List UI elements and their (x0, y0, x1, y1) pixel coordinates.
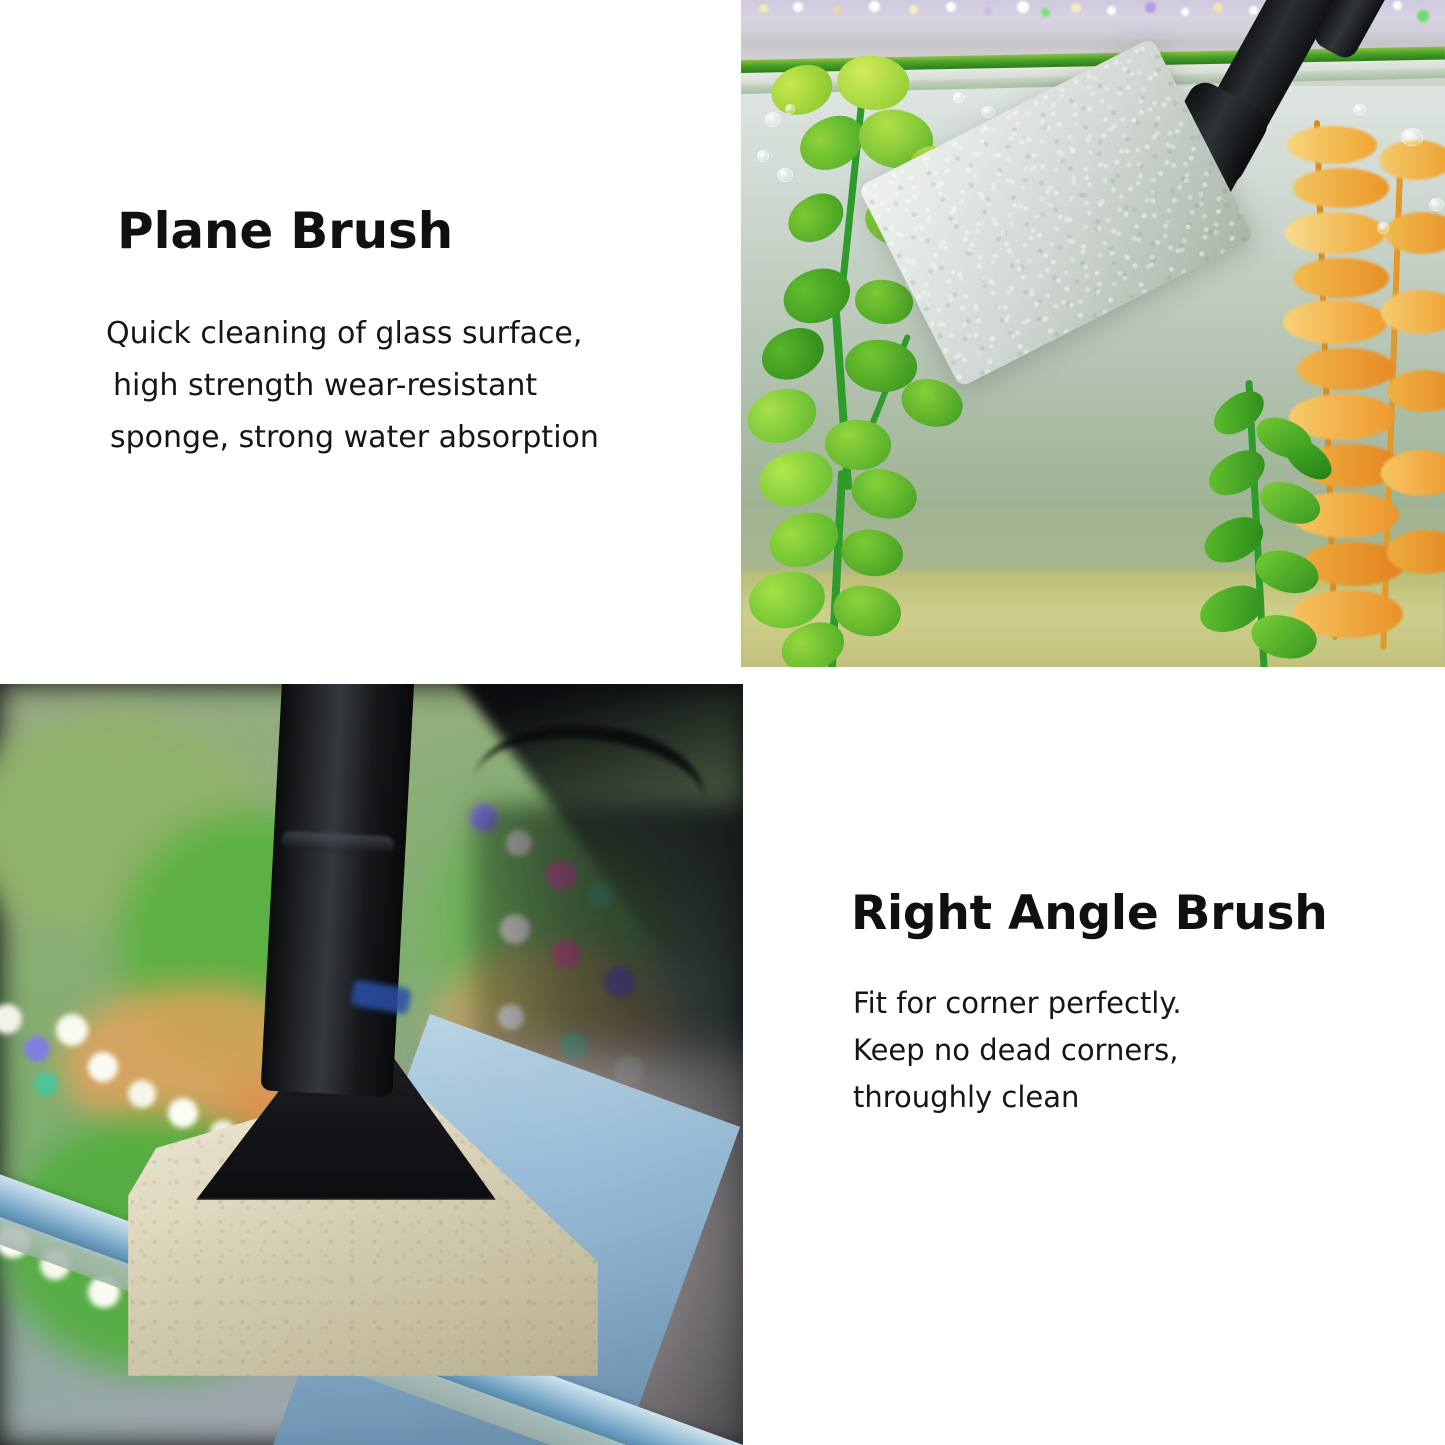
right-angle-brush-photo (0, 684, 743, 1445)
led-light (1249, 6, 1258, 15)
led-light (1041, 8, 1050, 17)
plane-brush-desc-line-3: sponge, strong water absorption (106, 412, 599, 464)
bokeh-light (88, 1052, 118, 1082)
plane-brush-title: Plane Brush (117, 202, 453, 260)
led-light (1393, 1, 1402, 10)
water-bubble (1401, 128, 1423, 146)
led-light (1181, 8, 1189, 16)
led-light (759, 4, 768, 13)
water-bubble (765, 112, 780, 127)
led-light (1145, 2, 1156, 13)
plane-brush-description: Quick cleaning of glass surface, high st… (106, 308, 599, 464)
bokeh-light (168, 1098, 198, 1128)
led-light (984, 7, 992, 15)
led-light (909, 5, 918, 14)
led-light (1213, 3, 1223, 13)
bokeh-light (128, 1080, 156, 1108)
led-light (1017, 1, 1029, 13)
led-light (946, 2, 956, 12)
led-light (833, 6, 841, 14)
water-bubble (1377, 222, 1389, 234)
bokeh-light (56, 1014, 88, 1046)
led-light (793, 2, 803, 12)
water-bubble (1429, 198, 1444, 211)
infographic-canvas: Plane Brush Quick cleaning of glass surf… (0, 0, 1445, 1445)
water-bubble (757, 150, 769, 162)
water-bubble (953, 92, 964, 103)
bokeh-light (34, 1072, 58, 1096)
bokeh-light (24, 1036, 50, 1062)
led-light (1071, 3, 1081, 13)
water-bubble (1353, 104, 1366, 115)
right-angle-brush-text-panel: Right Angle Brush Fit for corner perfect… (743, 680, 1445, 1445)
plane-brush-text-panel: Plane Brush Quick cleaning of glass surf… (0, 0, 741, 667)
water-bubble (777, 168, 793, 182)
right-angle-desc-line-1: Fit for corner perfectly. (853, 980, 1182, 1027)
right-angle-desc-line-2: Keep no dead corners, (853, 1027, 1182, 1074)
water-bubble (785, 104, 795, 114)
led-light (1417, 10, 1429, 22)
water-bubble (981, 106, 995, 118)
led-light (1107, 6, 1116, 15)
plane-brush-desc-line-1: Quick cleaning of glass surface, (106, 316, 582, 351)
right-angle-brush-description: Fit for corner perfectly. Keep no dead c… (853, 980, 1182, 1121)
led-light (869, 1, 880, 12)
brush-handle-shaft (261, 684, 416, 1097)
right-angle-desc-line-3: throughly clean (853, 1074, 1182, 1121)
plane-brush-photo (741, 0, 1445, 667)
right-angle-brush-title: Right Angle Brush (851, 886, 1328, 941)
plane-brush-desc-line-2: high strength wear-resistant (106, 360, 599, 412)
